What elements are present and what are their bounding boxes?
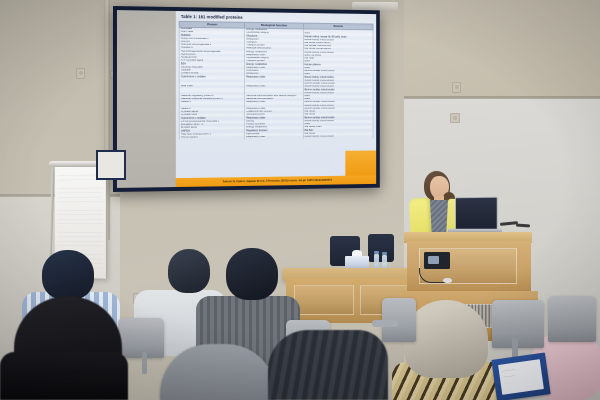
tissue-box <box>345 256 369 268</box>
dark-chair[interactable] <box>368 234 394 262</box>
m1-head <box>42 250 94 300</box>
slide-table: Protein Biological function Source Aconi… <box>179 20 373 139</box>
power-outlet-icon <box>76 68 85 79</box>
lecture-chair[interactable] <box>492 300 544 348</box>
blue-folder-handout[interactable]: ———— —— —— ——— <box>491 352 550 400</box>
projection-screen: Table 1: 161 modified proteins Protein B… <box>113 6 380 192</box>
screen-surface: Table 1: 161 modified proteins Protein B… <box>117 10 376 188</box>
framed-notice <box>96 150 126 180</box>
lecture-chair[interactable] <box>548 296 596 342</box>
table-cell: Ferritin subunit <box>179 136 244 140</box>
table-body: AconitaseEnergy metabolismActin, betaCyt… <box>179 27 373 139</box>
table-cell: Respiratory chain <box>245 136 303 140</box>
water-bottle <box>374 254 379 268</box>
power-outlet-icon <box>450 113 460 123</box>
m4-torso <box>268 330 388 400</box>
water-bottle <box>382 255 387 269</box>
wall-right-upper <box>404 0 600 108</box>
m2-head <box>168 249 210 293</box>
podium-control-panel[interactable] <box>424 252 450 269</box>
slide-accent-tab <box>345 151 376 176</box>
table-panel <box>294 285 354 315</box>
computer-mouse[interactable] <box>443 278 452 283</box>
chair-leg <box>142 352 147 374</box>
power-outlet-icon <box>452 82 461 93</box>
podium-cable <box>419 268 446 283</box>
slide-citation-bar: Zarkovic N, Cipak A, Jaganjac M et al. J… <box>176 175 376 187</box>
lecture-chair[interactable] <box>118 318 164 358</box>
w2-hijab <box>404 300 488 378</box>
lecture-hall-photo: Table 1: 161 modified proteins Protein B… <box>0 0 600 400</box>
laptop-screen[interactable] <box>455 197 498 232</box>
presentation-slide: Table 1: 161 modified proteins Protein B… <box>176 11 376 187</box>
m3-head <box>226 248 278 300</box>
bottle-cap <box>382 252 387 255</box>
wall-trim-line <box>404 96 600 99</box>
chair-arm <box>372 320 398 327</box>
w1-torso <box>0 352 128 400</box>
bottle-cap <box>374 251 379 254</box>
table-row: Ferritin subunitRespiratory chainMouse k… <box>179 135 373 139</box>
slide-citation-text: Zarkovic N, Cipak A, Jaganjac M et al. J… <box>223 179 332 184</box>
table-cell: Mouse kidney mitochondria <box>303 135 373 139</box>
